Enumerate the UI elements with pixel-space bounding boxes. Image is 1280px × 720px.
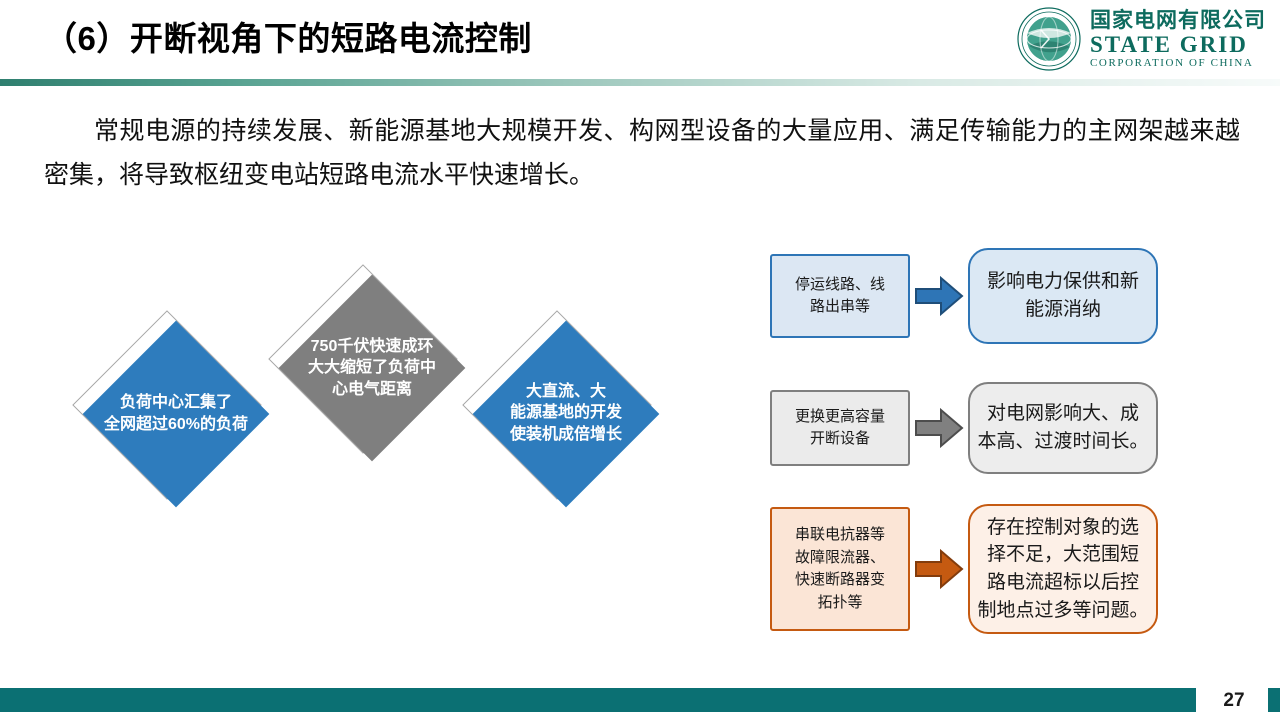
header-divider xyxy=(0,79,1280,86)
footer-bar-right-cap xyxy=(1268,688,1280,712)
state-grid-logo: 国家电网有限公司 STATE GRID CORPORATION OF CHINA xyxy=(1016,6,1266,72)
flow-arrow-3 xyxy=(910,548,968,590)
footer-bar xyxy=(0,688,1196,712)
logo-company-subtitle-en: CORPORATION OF CHINA xyxy=(1090,58,1266,69)
state-grid-globe-logo-icon xyxy=(1016,6,1082,72)
right-arrow-icon xyxy=(914,275,964,317)
logo-company-name-cn: 国家电网有限公司 xyxy=(1090,10,1266,31)
flow-row-1: 停运线路、线 路出串等 影响电力保供和新 能源消纳 xyxy=(770,248,1158,344)
right-arrow-icon xyxy=(914,407,964,449)
diamond-shape-2[interactable] xyxy=(279,275,466,462)
logo-text-block: 国家电网有限公司 STATE GRID CORPORATION OF CHINA xyxy=(1090,10,1266,69)
flow-target-box-2[interactable]: 对电网影响大、成 本高、过渡时间长。 xyxy=(968,382,1158,474)
flow-row-3: 串联电抗器等 故障限流器、 快速断路器变 拓扑等 存在控制对象的选 择不足，大范… xyxy=(770,504,1158,634)
flow-arrow-2 xyxy=(910,407,968,449)
flow-source-box-1[interactable]: 停运线路、线 路出串等 xyxy=(770,254,910,338)
right-arrow-icon xyxy=(914,548,964,590)
page-title: （6）开断视角下的短路电流控制 xyxy=(44,12,532,60)
page-number: 27 xyxy=(1214,690,1254,712)
flow-row-2: 更换更高容量 开断设备 对电网影响大、成 本高、过渡时间长。 xyxy=(770,382,1158,474)
flow-source-box-2[interactable]: 更换更高容量 开断设备 xyxy=(770,390,910,466)
diamond-diagram: 负荷中心汇集了 全网超过60%的负荷 750千伏快速成环 大大缩短了负荷中 心电… xyxy=(0,300,760,560)
diamond-shape-1[interactable] xyxy=(83,321,270,508)
flow-arrow-1 xyxy=(910,275,968,317)
body-paragraph: 常规电源的持续发展、新能源基地大规模开发、构网型设备的大量应用、满足传输能力的主… xyxy=(44,110,1240,198)
logo-company-name-en: STATE GRID xyxy=(1090,33,1266,56)
diamond-shape-3[interactable] xyxy=(473,321,660,508)
flow-source-box-3[interactable]: 串联电抗器等 故障限流器、 快速断路器变 拓扑等 xyxy=(770,507,910,631)
flow-target-box-3[interactable]: 存在控制对象的选 择不足，大范围短 路电流超标以后控 制地点过多等问题。 xyxy=(968,504,1158,634)
flow-target-box-1[interactable]: 影响电力保供和新 能源消纳 xyxy=(968,248,1158,344)
